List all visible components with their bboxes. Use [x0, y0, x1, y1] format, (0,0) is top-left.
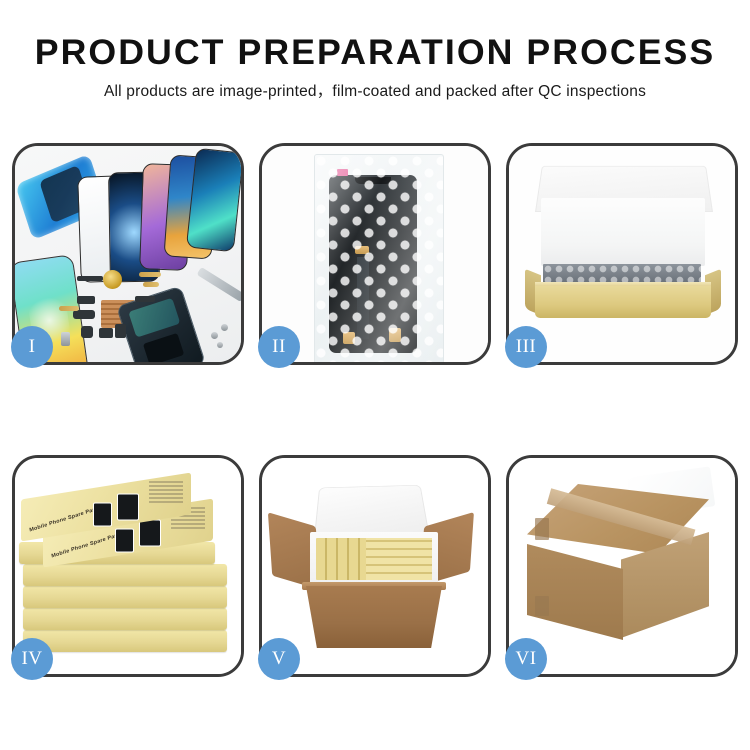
step-panel-6[interactable]: VI	[506, 455, 738, 677]
small-part	[221, 324, 228, 331]
box-spec-lines	[149, 480, 183, 502]
stacked-retail-boxes: Mobile Phone Spare Parts Mobile Phone Sp…	[17, 480, 241, 670]
step-badge-3: III	[505, 326, 547, 368]
step-panel-3[interactable]: III	[506, 143, 738, 365]
small-part	[73, 310, 95, 319]
page-subtitle: All products are image-printed，film-coat…	[0, 81, 750, 103]
box-layer	[23, 630, 227, 652]
box-front-panel	[535, 286, 711, 318]
step-panel-5[interactable]: V	[259, 455, 491, 677]
carton-front	[306, 586, 442, 648]
box-phone-graphic	[117, 494, 139, 521]
small-part	[81, 326, 93, 338]
box-layer	[23, 608, 227, 630]
product-preparation-infographic: PRODUCT PREPARATION PROCESS All products…	[0, 0, 750, 750]
coil-part-icon	[103, 270, 122, 289]
step-image-1	[15, 146, 241, 362]
small-part	[59, 306, 79, 311]
step-panel-1[interactable]: I	[12, 143, 244, 365]
small-part	[99, 328, 113, 338]
small-part	[143, 282, 159, 287]
step-image-3	[509, 146, 735, 362]
step-badge-4: IV	[11, 638, 53, 680]
tweezers-tool	[197, 267, 241, 302]
step-image-5	[262, 458, 488, 674]
page-title: PRODUCT PREPARATION PROCESS	[0, 32, 750, 74]
bubble-wrap-bag	[314, 154, 444, 362]
step-image-6	[509, 458, 735, 674]
box-label-text: Mobile Phone Spare Parts	[51, 532, 122, 560]
box-phone-graphic	[115, 529, 134, 553]
small-part	[77, 276, 103, 281]
small-part	[115, 324, 126, 338]
header: PRODUCT PREPARATION PROCESS All products…	[0, 0, 750, 103]
retail-boxes-inside	[366, 538, 432, 580]
step-image-4: Mobile Phone Spare Parts Mobile Phone Sp…	[15, 458, 241, 674]
small-part	[217, 342, 223, 348]
small-part	[211, 332, 218, 339]
box-phone-graphic	[139, 520, 161, 547]
step-badge-6: VI	[505, 638, 547, 680]
small-part	[135, 296, 155, 302]
steps-grid: I II	[12, 143, 738, 683]
step-panel-2[interactable]: II	[259, 143, 491, 365]
tape-stub	[535, 518, 549, 540]
small-part	[139, 272, 161, 277]
carton-front-face	[527, 544, 623, 640]
plastic-sheen	[315, 155, 443, 362]
step-badge-1: I	[11, 326, 53, 368]
foam-sheet	[541, 198, 705, 266]
tape-stub	[535, 596, 549, 616]
step-image-2	[262, 146, 488, 362]
small-part	[77, 296, 95, 304]
box-label-text: Mobile Phone Spare Parts	[29, 506, 100, 534]
box-layer	[23, 586, 227, 608]
step-badge-2: II	[258, 326, 300, 368]
step-badge-5: V	[258, 638, 300, 680]
small-part	[61, 332, 70, 346]
phone-screen-teal	[186, 148, 241, 252]
step-panel-4[interactable]: Mobile Phone Spare Parts Mobile Phone Sp…	[12, 455, 244, 677]
phone-chassis-part	[116, 286, 206, 362]
box-phone-graphic	[93, 503, 112, 527]
box-layer	[23, 564, 227, 586]
